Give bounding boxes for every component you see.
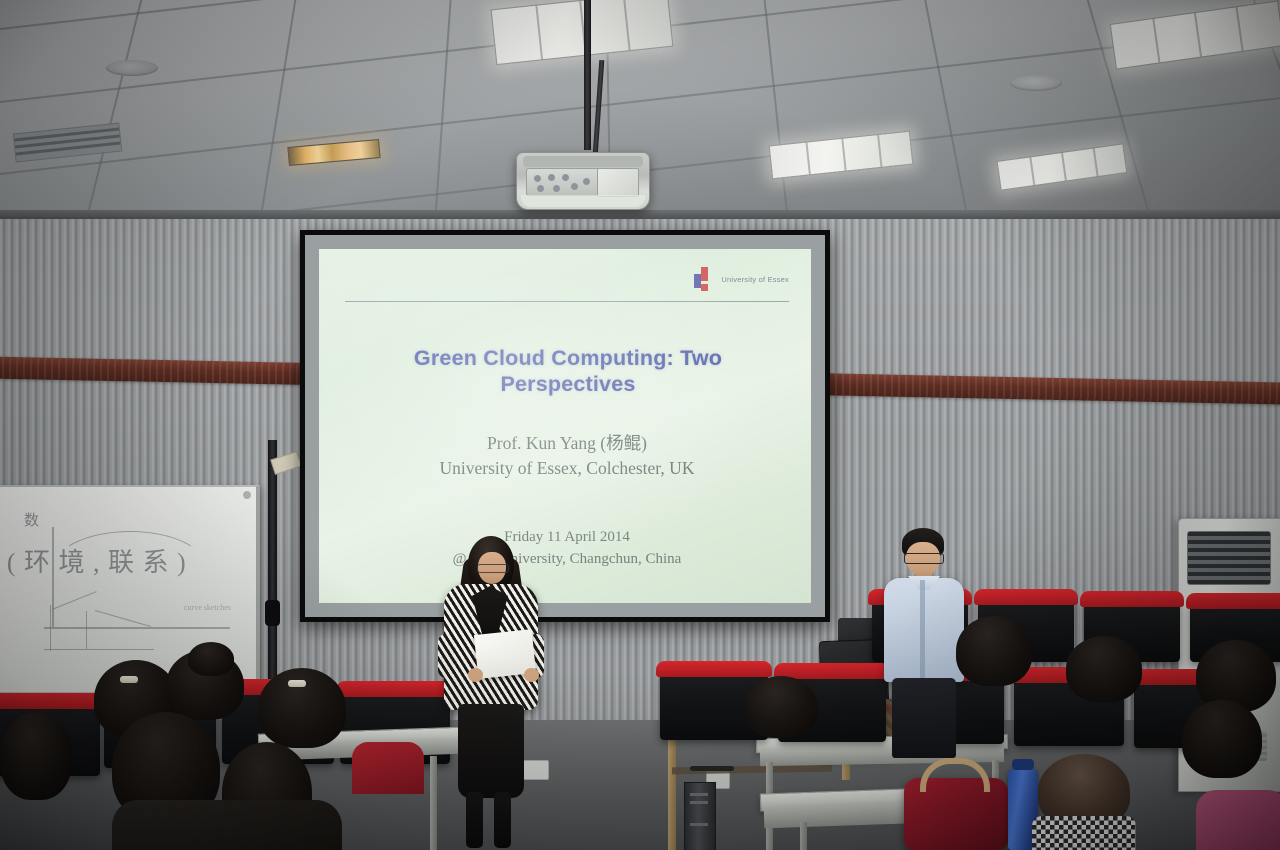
slide-date-block: Friday 11 April 2014 @ Jilin University,… [341, 527, 793, 571]
slide-title-line-1: Green Cloud Computing: Two [355, 345, 781, 371]
slide-title-line-2: Perspectives [355, 371, 781, 397]
hair-clip [288, 680, 306, 687]
slide-venue: @ Jilin University, Changchun, China [341, 549, 793, 571]
audience-head [1182, 700, 1262, 778]
whiteboard-axis-y2 [50, 605, 51, 651]
presentation-slide: University of Essex Green Cloud Computin… [319, 249, 811, 603]
slide-subtitle: Prof. Kun Yang (杨鲲) University of Essex,… [341, 431, 793, 481]
university-logo: University of Essex [694, 267, 789, 291]
whiteboard-note-1: 数 [24, 509, 39, 530]
slide-date: Friday 11 April 2014 [341, 527, 793, 549]
audience-head [744, 676, 818, 738]
whiteboard-curve [54, 531, 206, 603]
whiteboard-axis-x [44, 627, 230, 629]
essex-logo-mark-icon [694, 267, 716, 291]
whiteboard-peak-1 [52, 591, 97, 610]
table-leg [668, 722, 676, 850]
wall-top-trim [0, 210, 1280, 219]
slide-divider [345, 301, 789, 302]
projector-control-panel [526, 168, 600, 196]
woman-skirt [458, 704, 524, 798]
ac-grille [1187, 531, 1271, 585]
man-trousers [892, 678, 956, 758]
projector-mount-pole [584, 0, 591, 150]
audience-pink-jacket [1196, 790, 1280, 850]
pole-bracket [265, 600, 280, 626]
audience-head [1066, 636, 1142, 702]
whiteboard-tick [86, 611, 87, 649]
projector-lens [597, 168, 639, 197]
audience-red-clothing [352, 742, 424, 794]
whiteboard-axis-x2 [44, 649, 154, 650]
whiteboard-corner-clip [243, 491, 251, 499]
projection-screen: University of Essex Green Cloud Computin… [305, 235, 825, 617]
audience-head [0, 712, 72, 800]
desk-cable [690, 766, 734, 771]
whiteboard-peak-2 [95, 610, 151, 627]
audience-head [956, 616, 1032, 686]
pc-tower [684, 782, 716, 850]
projection-screen-frame: University of Essex Green Cloud Computin… [300, 230, 830, 622]
audience-head [188, 642, 234, 676]
lecture-hall-photo: 数 =f ( 环 境 , 联 系 ) curve sketches [0, 0, 1280, 850]
smoke-detector-icon [106, 60, 158, 76]
ceiling-projector [516, 152, 650, 210]
hair-clip [120, 676, 138, 683]
man-glasses [904, 553, 944, 564]
red-handbag [904, 778, 1008, 850]
bottle-cap [1012, 759, 1034, 770]
whiteboard-note-3: curve sketches [184, 603, 231, 612]
audience-jacket [112, 800, 342, 850]
presenter-woman [432, 536, 548, 850]
slide-presenter-name: Prof. Kun Yang (杨鲲) [341, 431, 793, 456]
row-desk-leg [800, 822, 807, 850]
woman-glasses [477, 564, 509, 573]
slide-title: Green Cloud Computing: Two Perspectives [355, 345, 781, 397]
whiteboard-axis-y [52, 527, 54, 627]
slide-affiliation: University of Essex, Colchester, UK [341, 456, 793, 481]
smoke-detector-icon [1010, 75, 1062, 91]
logo-text: University of Essex [721, 275, 789, 284]
audience-checkered-shirt [1032, 816, 1136, 850]
